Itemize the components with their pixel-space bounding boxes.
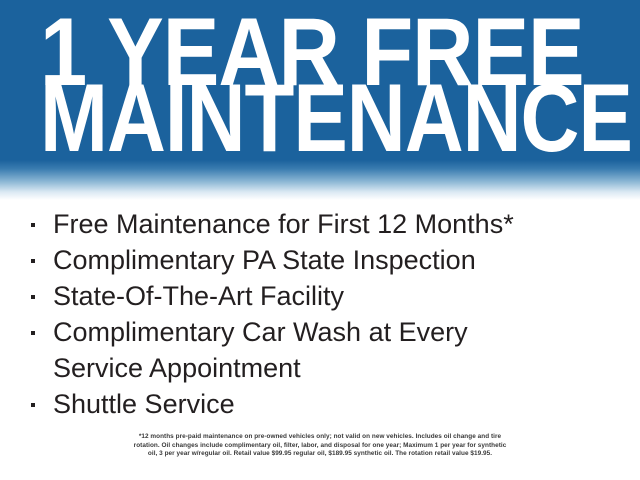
list-item: Complimentary PA State Inspection — [0, 242, 640, 278]
square-bullet-icon — [31, 331, 35, 335]
square-bullet-icon — [31, 295, 35, 299]
list-item-label: State-Of-The-Art Facility — [53, 281, 344, 311]
list-item: State-Of-The-Art Facility — [0, 278, 640, 314]
headline-block: 1 YEAR FREE MAINTENANCE — [40, 14, 616, 146]
list-item: Shuttle Service — [0, 386, 640, 422]
list-item-label: Complimentary Car Wash at Every — [53, 317, 468, 347]
square-bullet-icon — [31, 403, 35, 407]
legal-disclaimer: *12 months pre-paid maintenance on pre-o… — [0, 433, 640, 459]
disclaimer-line-1: *12 months pre-paid maintenance on pre-o… — [0, 433, 640, 442]
list-item: Free Maintenance for First 12 Months* — [0, 206, 640, 242]
square-bullet-icon — [31, 223, 35, 227]
headline-banner: 1 YEAR FREE MAINTENANCE — [0, 0, 640, 200]
disclaimer-line-3: oil, 3 per year w/regular oil. Retail va… — [0, 450, 640, 459]
offer-bullet-list: Free Maintenance for First 12 Months* Co… — [0, 206, 640, 422]
list-item-continuation: Service Appointment — [0, 350, 640, 386]
list-item-label: Free Maintenance for First 12 Months* — [53, 209, 514, 239]
banner-gradient-fade — [0, 160, 640, 200]
service-offer-advertisement: 1 YEAR FREE MAINTENANCE Free Maintenance… — [0, 0, 640, 480]
headline-line-2: MAINTENANCE — [40, 80, 613, 158]
square-bullet-icon — [31, 259, 35, 263]
disclaimer-line-2: rotation. Oil changes include compliment… — [0, 442, 640, 451]
list-item-label: Complimentary PA State Inspection — [53, 245, 476, 275]
list-item-label: Shuttle Service — [53, 389, 235, 419]
list-item: Complimentary Car Wash at Every — [0, 314, 640, 350]
list-item-label: Service Appointment — [53, 353, 301, 383]
